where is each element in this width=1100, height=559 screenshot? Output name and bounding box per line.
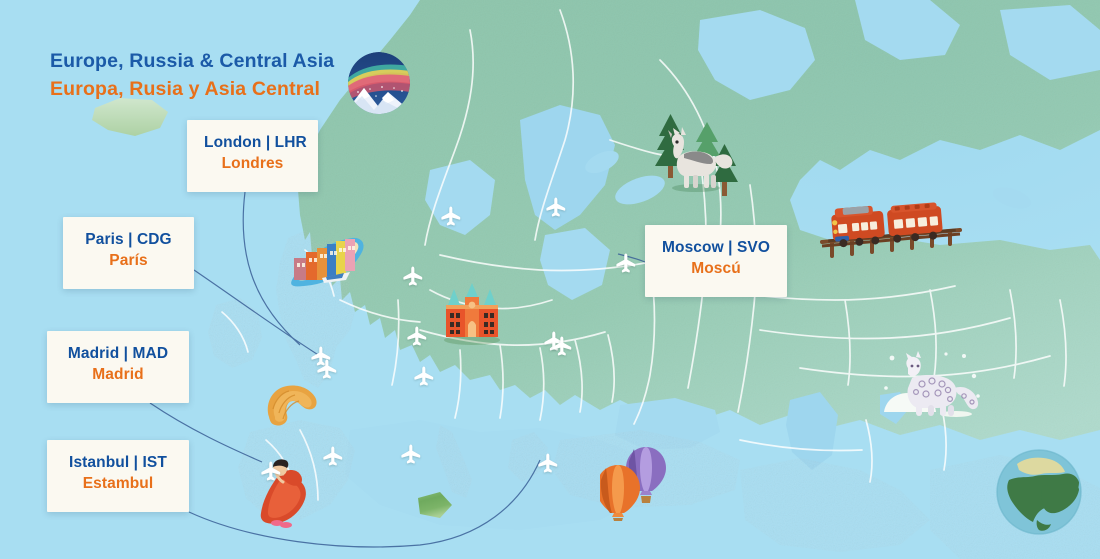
train-on-bridge-icon bbox=[818, 190, 964, 258]
airport-plane-marker-icon[interactable] bbox=[400, 443, 422, 465]
destination-label-en: Madrid | MAD bbox=[64, 344, 172, 365]
destination-label-es: París bbox=[80, 251, 177, 272]
destination-card-istanbul[interactable]: Istanbul | ISTEstambul bbox=[47, 440, 189, 512]
destination-label-en: Moscow | SVO bbox=[662, 238, 770, 259]
destination-label-es: Madrid bbox=[64, 365, 172, 386]
destination-label-es: Moscú bbox=[662, 259, 770, 280]
airport-plane-marker-icon[interactable] bbox=[537, 452, 559, 474]
airport-plane-marker-icon[interactable] bbox=[551, 335, 573, 357]
airport-plane-marker-icon[interactable] bbox=[413, 365, 435, 387]
destination-card-madrid[interactable]: Madrid | MADMadrid bbox=[47, 331, 189, 403]
destination-card-london[interactable]: London | LHRLondres bbox=[187, 120, 318, 192]
croissant-icon bbox=[261, 379, 323, 431]
nyhavn-harbor-houses-icon bbox=[286, 228, 368, 290]
airport-plane-marker-icon[interactable] bbox=[322, 445, 344, 467]
airport-plane-marker-icon[interactable] bbox=[402, 265, 424, 287]
page-title-en: Europe, Russia & Central Asia bbox=[50, 48, 334, 76]
aurora-mountain-badge-icon bbox=[348, 52, 410, 114]
globe-icon bbox=[993, 446, 1085, 538]
destination-label-es: Estambul bbox=[64, 474, 172, 495]
destination-card-paris[interactable]: Paris | CDGParís bbox=[63, 217, 194, 289]
destination-label-en: London | LHR bbox=[204, 133, 301, 154]
destination-label-en: Istanbul | IST bbox=[64, 453, 172, 474]
destination-label-es: Londres bbox=[204, 154, 301, 175]
page-title-es: Europa, Rusia y Asia Central bbox=[50, 76, 334, 104]
airport-plane-marker-icon[interactable] bbox=[406, 325, 428, 347]
airport-plane-marker-icon[interactable] bbox=[545, 196, 567, 218]
destination-label-en: Paris | CDG bbox=[80, 230, 177, 251]
map-infographic: Europe, Russia & Central Asia Europa, Ru… bbox=[0, 0, 1100, 559]
airport-plane-marker-icon[interactable] bbox=[260, 460, 282, 482]
castle-icon bbox=[436, 283, 508, 345]
title-block: Europe, Russia & Central Asia Europa, Ru… bbox=[50, 48, 334, 103]
hot-air-balloon-icon bbox=[600, 443, 678, 521]
destination-card-moscow[interactable]: Moscow | SVOMoscú bbox=[645, 225, 787, 297]
airport-plane-marker-icon[interactable] bbox=[440, 205, 462, 227]
snow-leopard-icon bbox=[878, 348, 986, 420]
airport-plane-marker-icon[interactable] bbox=[316, 358, 338, 380]
husky-wolf-icon bbox=[648, 108, 744, 200]
airport-plane-marker-icon[interactable] bbox=[615, 252, 637, 274]
